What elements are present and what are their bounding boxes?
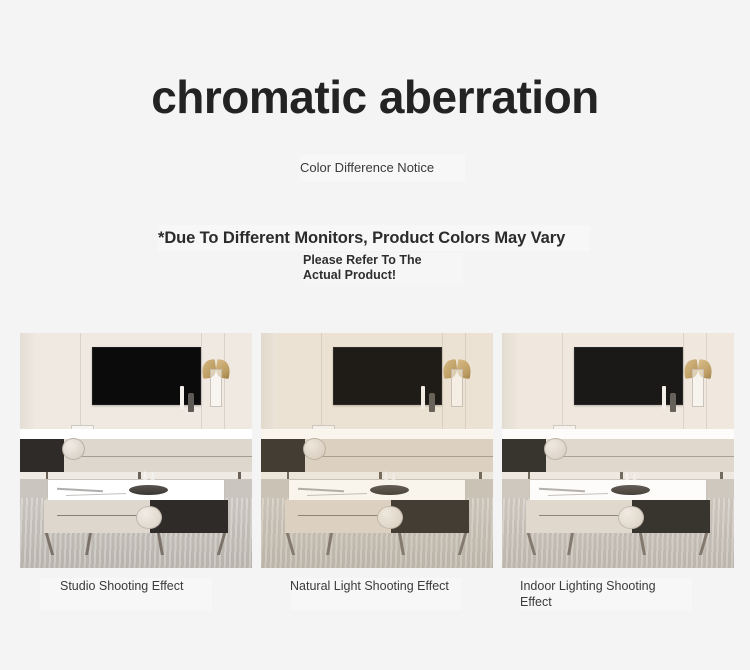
television-icon bbox=[92, 347, 201, 405]
decor-bottle-icon bbox=[188, 393, 194, 412]
coffee-table-drawer-line bbox=[57, 515, 145, 516]
product-photo-natural-light[interactable] bbox=[261, 333, 493, 568]
television-icon bbox=[574, 347, 683, 405]
console-round-handle-icon bbox=[544, 438, 567, 460]
serving-tray-icon bbox=[129, 485, 168, 496]
console-drawer-line bbox=[71, 456, 252, 457]
refer-line-1: Please Refer To The bbox=[303, 253, 463, 268]
coffee-table-drawer-line bbox=[539, 515, 627, 516]
decor-bottle-icon bbox=[429, 393, 435, 412]
chromatic-aberration-banner: chromatic aberration Color Difference No… bbox=[0, 0, 750, 670]
refer-line-2: Actual Product! bbox=[303, 268, 463, 283]
refer-panel: Please Refer To The Actual Product! bbox=[303, 253, 463, 285]
glass-vase-icon bbox=[451, 369, 463, 407]
console-dark-section bbox=[20, 439, 64, 472]
console-dark-section bbox=[502, 439, 546, 472]
console-round-handle-icon bbox=[62, 438, 85, 460]
caption-panel: Natural Light Shooting Effect bbox=[290, 578, 462, 610]
decor-bottle-icon bbox=[662, 386, 666, 410]
television-icon bbox=[333, 347, 442, 405]
console-drawer-line bbox=[553, 456, 734, 457]
subhead-text: Color Difference Notice bbox=[300, 155, 465, 181]
living-room-scene bbox=[261, 333, 493, 568]
caption-panel: Studio Shooting Effect bbox=[40, 578, 212, 610]
caption-panel: Indoor Lighting Shooting Effect bbox=[520, 578, 692, 610]
glass-vase-icon bbox=[210, 369, 222, 407]
coffee-table-round-handle-icon bbox=[136, 506, 162, 530]
console-drawer-line bbox=[312, 456, 493, 457]
coffee-table-dark-section bbox=[391, 500, 469, 533]
console-round-handle-icon bbox=[303, 438, 326, 460]
notice-panel: *Due To Different Monitors, Product Colo… bbox=[158, 225, 590, 251]
coffee-table-dark-section bbox=[632, 500, 710, 533]
coffee-table-drawer-line bbox=[298, 515, 386, 516]
coffee-table-round-handle-icon bbox=[618, 506, 644, 530]
product-photo-indoor-lighting[interactable] bbox=[502, 333, 734, 568]
product-photo-studio[interactable] bbox=[20, 333, 252, 568]
serving-tray-icon bbox=[370, 485, 409, 496]
refer-text-block: Please Refer To The Actual Product! bbox=[303, 253, 463, 283]
decor-bottle-icon bbox=[670, 393, 676, 412]
photo-caption-natural-light: Natural Light Shooting Effect bbox=[290, 578, 455, 594]
page-title: chromatic aberration bbox=[0, 72, 750, 123]
subhead-panel: Color Difference Notice bbox=[300, 155, 465, 181]
photo-caption-indoor-lighting: Indoor Lighting Shooting Effect bbox=[520, 578, 685, 610]
living-room-scene bbox=[502, 333, 734, 568]
living-room-scene bbox=[20, 333, 252, 568]
serving-tray-icon bbox=[611, 485, 650, 496]
photo-caption-studio: Studio Shooting Effect bbox=[60, 578, 220, 594]
glass-vase-icon bbox=[692, 369, 704, 407]
coffee-table-dark-section bbox=[150, 500, 228, 533]
notice-main-text: *Due To Different Monitors, Product Colo… bbox=[158, 225, 590, 251]
decor-bottle-icon bbox=[180, 386, 184, 410]
coffee-table-round-handle-icon bbox=[377, 506, 403, 530]
product-photo-gallery bbox=[20, 333, 734, 568]
console-dark-section bbox=[261, 439, 305, 472]
decor-bottle-icon bbox=[421, 386, 425, 410]
